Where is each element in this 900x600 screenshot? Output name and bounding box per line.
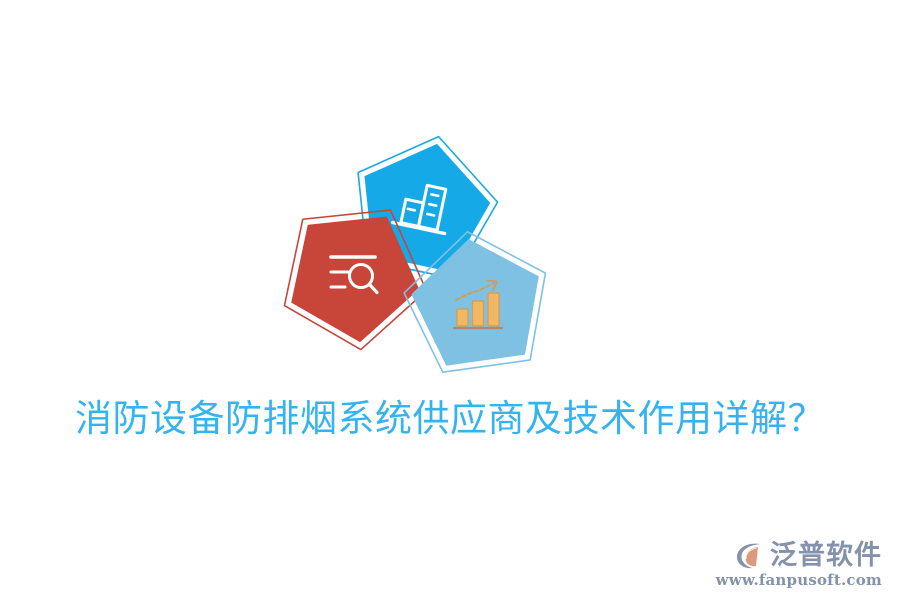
brand-watermark[interactable]: 泛普软件 www.fanpusoft.com [716, 539, 882, 588]
bar-3 [488, 293, 499, 326]
brand-url[interactable]: www.fanpusoft.com [716, 573, 882, 588]
pentagon-cluster-graphic [270, 118, 570, 378]
bar-2 [473, 301, 484, 326]
page-title: 消防设备防排烟系统供应商及技术作用详解？ [0, 396, 900, 442]
page-canvas: 消防设备防排烟系统供应商及技术作用详解？ 泛普软件 www.fanpusoft.… [0, 0, 900, 600]
bar-1 [457, 309, 468, 326]
brand-name: 泛普软件 [770, 542, 882, 569]
fanpu-swoosh-logo-icon [734, 539, 766, 571]
brand-row: 泛普软件 [734, 539, 882, 571]
